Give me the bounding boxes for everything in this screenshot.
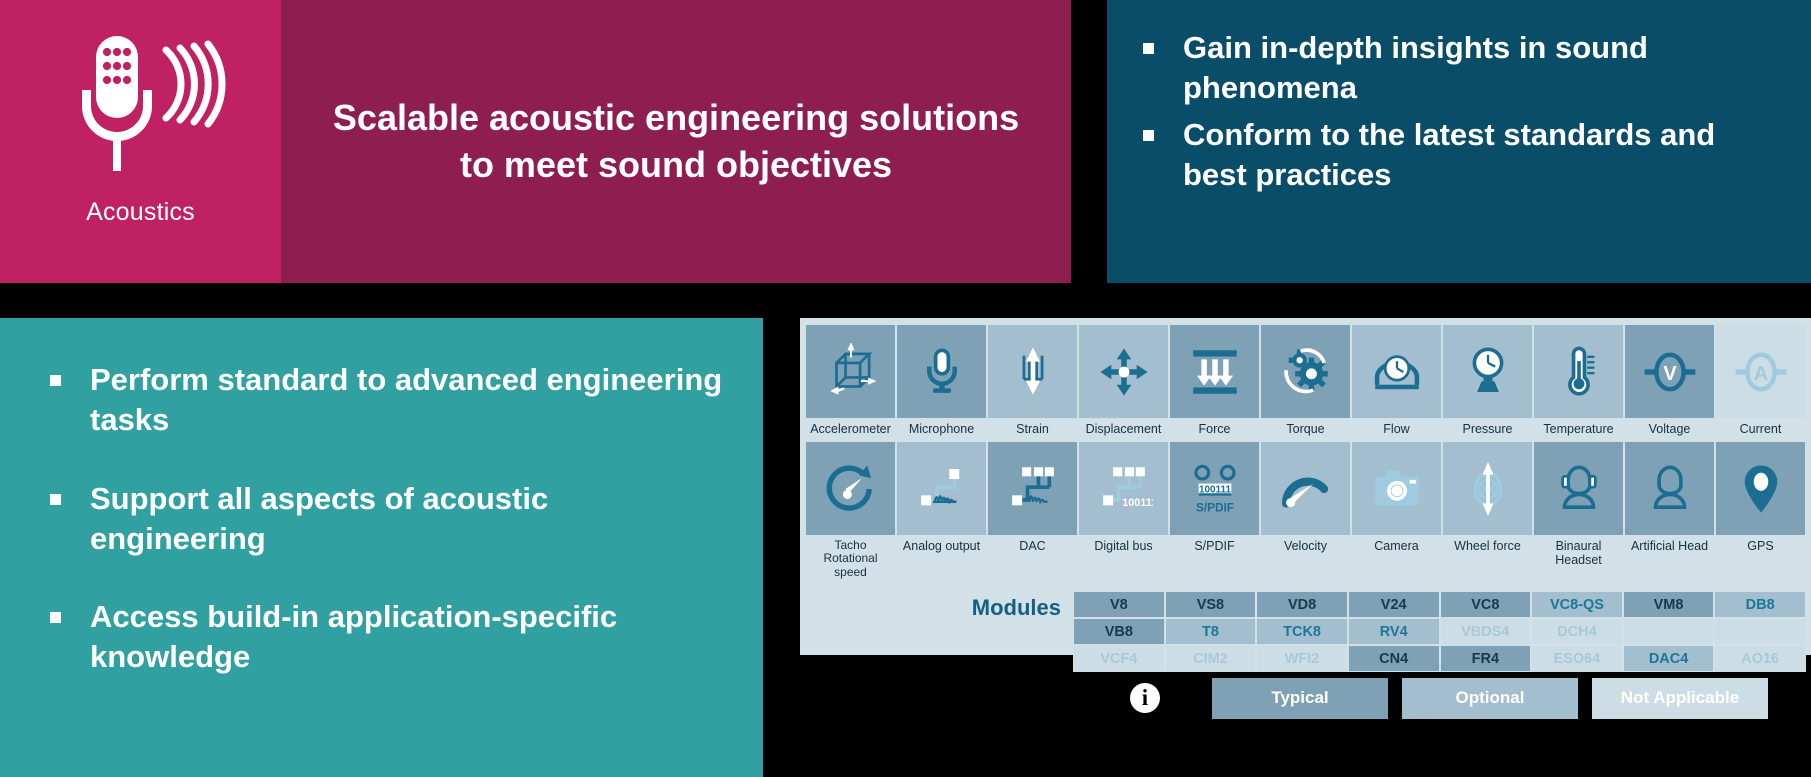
sensor-label: Camera: [1351, 536, 1442, 584]
analog-output-icon[interactable]: [896, 441, 987, 536]
module-cell[interactable]: VC8: [1440, 591, 1532, 618]
module-cell[interactable]: VM8: [1623, 591, 1715, 618]
benefit-item: Gain in-depth insights in sound phenomen…: [1137, 28, 1781, 109]
force-arrows-icon[interactable]: [1169, 324, 1260, 419]
benefit-item: Conform to the latest standards and best…: [1137, 115, 1781, 196]
slide-root: Acoustics Scalable acoustic engineering …: [0, 0, 1811, 777]
microphone-icon[interactable]: [896, 324, 987, 419]
module-cell-empty: [1623, 618, 1715, 645]
benefit-text: Gain in-depth insights in sound phenomen…: [1183, 30, 1648, 105]
microphone-sound-waves-icon: [56, 28, 226, 188]
category-tile: Acoustics: [0, 0, 281, 283]
artificial-head-icon[interactable]: [1624, 441, 1715, 536]
svg-text:100111: 100111: [1122, 497, 1153, 509]
sensor-label: Force: [1169, 419, 1260, 441]
legend-chip-optional[interactable]: Optional: [1402, 678, 1578, 719]
capability-item: Perform standard to advanced engineering…: [46, 360, 727, 441]
module-cell[interactable]: WFI2: [1256, 645, 1348, 672]
sensor-label: Velocity: [1260, 536, 1351, 584]
module-cell[interactable]: T8: [1165, 618, 1257, 645]
svg-text:A: A: [1753, 363, 1767, 385]
module-cell[interactable]: DAC4: [1623, 645, 1715, 672]
module-cell[interactable]: RV4: [1348, 618, 1440, 645]
tacho-dial-icon[interactable]: [805, 441, 896, 536]
sensor-label: TachoRotational speed: [805, 536, 896, 584]
strain-gauge-icon[interactable]: [987, 324, 1078, 419]
bullet-square-icon: [50, 494, 61, 505]
sensor-label: Strain: [987, 419, 1078, 441]
sensor-label: DAC: [987, 536, 1078, 584]
benefits-panel: Gain in-depth insights in sound phenomen…: [1107, 0, 1811, 283]
bullet-square-icon: [1143, 130, 1154, 141]
sensor-label-row: AccelerometerMicrophoneStrainDisplacemen…: [805, 419, 1806, 441]
module-cell[interactable]: DB8: [1714, 591, 1806, 618]
digital-bus-icon[interactable]: 100111: [1078, 441, 1169, 536]
svg-text:V: V: [1663, 363, 1677, 385]
modules-row: VCF4CIM2WFI2CN4FR4ESO64DAC4AO16: [1073, 645, 1806, 672]
module-cell[interactable]: TCK8: [1256, 618, 1348, 645]
sensor-label: GPS: [1715, 536, 1806, 584]
sensor-label: Binaural Headset: [1533, 536, 1624, 584]
module-cell[interactable]: CN4: [1348, 645, 1440, 672]
module-cell[interactable]: ESO64: [1531, 645, 1623, 672]
modules-area: Modules V8VS8VD8V24VC8VC8-QSVM8DB8VB8T8T…: [805, 591, 1806, 672]
module-cell[interactable]: VCF4: [1073, 645, 1165, 672]
modules-row: VB8T8TCK8RV4VBDS4DCH4: [1073, 618, 1806, 645]
binaural-headset-icon[interactable]: [1533, 441, 1624, 536]
sensor-label: Wheel force: [1442, 536, 1533, 584]
capability-text: Support all aspects of acoustic engineer…: [90, 481, 548, 556]
sensor-label: Torque: [1260, 419, 1351, 441]
capability-text: Access build-in application-specific kno…: [90, 599, 617, 674]
headline-text: Scalable acoustic engineering solutions …: [326, 95, 1026, 187]
thermometer-icon[interactable]: [1533, 324, 1624, 419]
gears-icon[interactable]: [1260, 324, 1351, 419]
velocity-gauge-icon[interactable]: [1260, 441, 1351, 536]
benefits-list: Gain in-depth insights in sound phenomen…: [1137, 28, 1781, 195]
sensor-label: Digital bus: [1078, 536, 1169, 584]
benefit-text: Conform to the latest standards and best…: [1183, 117, 1715, 192]
bullet-square-icon: [1143, 43, 1154, 54]
modules-grid: V8VS8VD8V24VC8VC8-QSVM8DB8VB8T8TCK8RV4VB…: [1073, 591, 1806, 672]
module-cell[interactable]: V24: [1348, 591, 1440, 618]
dac-icon[interactable]: [987, 441, 1078, 536]
four-arrows-icon[interactable]: [1078, 324, 1169, 419]
sensor-icon-row: 100111 100111 S/PDIF: [805, 441, 1806, 536]
voltmeter-icon[interactable]: V: [1624, 324, 1715, 419]
pressure-gauge-icon[interactable]: [1442, 324, 1533, 419]
category-label: Acoustics: [86, 198, 195, 227]
sensor-label: Flow: [1351, 419, 1442, 441]
cube-axes-icon[interactable]: [805, 324, 896, 419]
sensor-label: Microphone: [896, 419, 987, 441]
capability-item: Access build-in application-specific kno…: [46, 597, 727, 678]
camera-icon[interactable]: [1351, 441, 1442, 536]
module-cell[interactable]: V8: [1073, 591, 1165, 618]
sensor-label: Artificial Head: [1624, 536, 1715, 584]
module-cell[interactable]: DCH4: [1531, 618, 1623, 645]
module-cell[interactable]: VD8: [1256, 591, 1348, 618]
wheel-force-icon[interactable]: [1442, 441, 1533, 536]
module-cell[interactable]: VB8: [1073, 618, 1165, 645]
sensor-label: Analog output: [896, 536, 987, 584]
module-cell[interactable]: VBDS4: [1440, 618, 1532, 645]
headline-panel: Scalable acoustic engineering solutions …: [281, 0, 1071, 283]
ammeter-icon[interactable]: A: [1715, 324, 1806, 419]
bullet-square-icon: [50, 612, 61, 623]
module-cell[interactable]: AO16: [1714, 645, 1806, 672]
spdif-icon[interactable]: 100111 S/PDIF: [1169, 441, 1260, 536]
sensor-label: Pressure: [1442, 419, 1533, 441]
sensor-matrix-board: V AAccelerometerMicrophoneStrainDisplace…: [800, 318, 1811, 655]
legend: i TypicalOptionalNot Applicable: [1130, 672, 1811, 724]
capability-text: Perform standard to advanced engineering…: [90, 362, 722, 437]
sensor-label-row: TachoRotational speedAnalog outputDACDig…: [805, 536, 1806, 584]
info-icon[interactable]: i: [1130, 683, 1160, 713]
module-cell[interactable]: VS8: [1165, 591, 1257, 618]
capability-item: Support all aspects of acoustic engineer…: [46, 479, 727, 560]
sensor-label: Current: [1715, 419, 1806, 441]
legend-chip-not-applicable[interactable]: Not Applicable: [1592, 678, 1768, 719]
module-cell[interactable]: VC8-QS: [1531, 591, 1623, 618]
sensor-label: Voltage: [1624, 419, 1715, 441]
sensor-icon-row: V A: [805, 324, 1806, 419]
modules-row: V8VS8VD8V24VC8VC8-QSVM8DB8: [1073, 591, 1806, 618]
module-cell[interactable]: FR4: [1440, 645, 1532, 672]
capabilities-panel: Perform standard to advanced engineering…: [0, 318, 763, 777]
bullet-square-icon: [50, 375, 61, 386]
module-cell[interactable]: CIM2: [1165, 645, 1257, 672]
capabilities-list: Perform standard to advanced engineering…: [46, 360, 727, 678]
flow-meter-icon[interactable]: [1351, 324, 1442, 419]
sensor-label: Displacement: [1078, 419, 1169, 441]
sensor-label: S/PDIF: [1169, 536, 1260, 584]
sensor-label: Accelerometer: [805, 419, 896, 441]
svg-text:S/PDIF: S/PDIF: [1196, 501, 1234, 514]
module-cell-empty: [1714, 618, 1806, 645]
sensor-label: Temperature: [1533, 419, 1624, 441]
modules-title: Modules: [805, 591, 1073, 623]
gps-pin-icon[interactable]: [1715, 441, 1806, 536]
legend-chip-typical[interactable]: Typical: [1212, 678, 1388, 719]
